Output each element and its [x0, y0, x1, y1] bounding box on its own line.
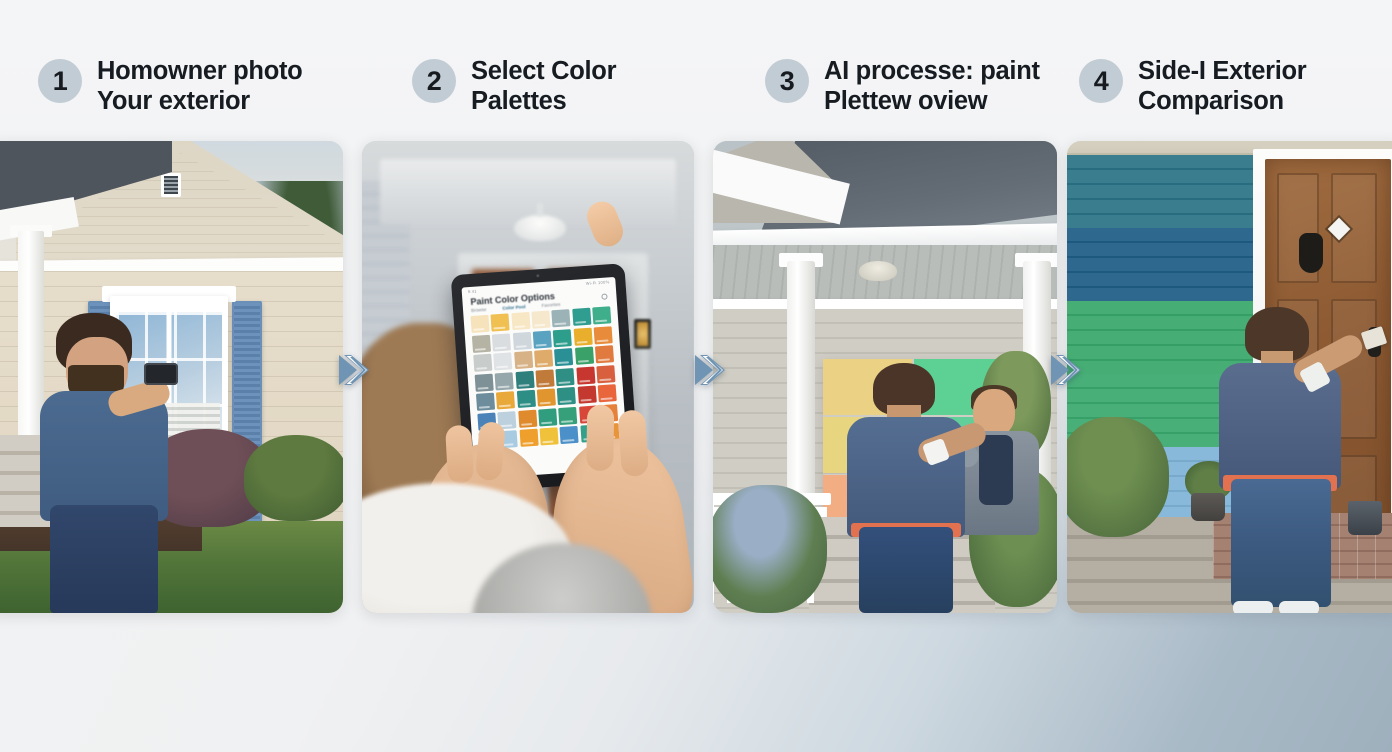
paint-swatch-25[interactable] [535, 369, 554, 387]
paint-swatch-30[interactable] [496, 391, 515, 409]
step-1-image-panel [0, 141, 343, 613]
paint-swatch-24[interactable] [515, 370, 534, 388]
scene-ai-paint-preview [713, 141, 1057, 613]
paint-swatch-11[interactable] [533, 330, 552, 348]
arrow-step-1-to-2 [337, 348, 377, 392]
homeowner-jeans [50, 505, 158, 613]
step-header-1: 1 Homowner photo Your exterior [0, 0, 360, 140]
paint-swatch-10[interactable] [512, 331, 531, 349]
paint-swatch-5[interactable] [552, 309, 571, 327]
paint-swatch-17[interactable] [514, 351, 533, 369]
homeowner-jeans [859, 527, 953, 613]
paint-swatch-9[interactable] [492, 333, 511, 351]
paint-swatch-31[interactable] [517, 390, 536, 408]
tab-color-pool[interactable]: Color Pool [502, 304, 526, 311]
flowering-shrub-left [713, 485, 827, 613]
tab-favorites[interactable]: Favorites [541, 302, 560, 308]
arrow-step-3-to-4 [1049, 348, 1089, 392]
left-finger-1 [445, 425, 474, 484]
paint-swatch-19[interactable] [554, 348, 573, 366]
homeowner-shoe-right [1279, 601, 1319, 613]
paint-swatch-22[interactable] [475, 373, 494, 391]
paint-swatch-7[interactable] [592, 306, 611, 324]
paint-swatch-15[interactable] [473, 354, 492, 372]
blurred-porch-lantern [634, 319, 651, 349]
paint-swatch-16[interactable] [494, 352, 513, 370]
step-1-badge: 1 [38, 59, 82, 103]
paint-swatch-45[interactable] [519, 429, 538, 447]
page-canvas: 1 Homowner photo Your exterior 2 Select … [0, 0, 1392, 752]
blurred-ceiling-light [514, 215, 566, 241]
tab-browse[interactable]: Browse [471, 307, 487, 313]
gable-vent [161, 173, 181, 197]
door-knocker-icon [1299, 233, 1323, 273]
step-1-title: Homowner photo Your exterior [97, 57, 302, 116]
left-finger-2 [475, 421, 506, 481]
step-4-title: Side-I Exterior Comparison [1138, 57, 1306, 116]
paint-swatch-27[interactable] [576, 366, 595, 384]
paint-swatch-32[interactable] [537, 388, 556, 406]
paint-swatch-33[interactable] [557, 387, 576, 405]
homeowner-figure [34, 313, 184, 613]
step-header-4: 4 Side-I Exterior Comparison [1068, 0, 1392, 140]
step-3-title: AI processe: paint Plettew oview [824, 57, 1040, 116]
paint-swatch-20[interactable] [575, 347, 594, 365]
homeowner-shoe-left [1233, 601, 1273, 613]
step-header-3: 3 AI processe: paint Plettew oview [710, 0, 1068, 140]
right-finger-2 [618, 409, 650, 477]
paint-swatch-4[interactable] [531, 311, 550, 329]
paint-swatch-26[interactable] [556, 367, 575, 385]
scene-side-by-side-comparison [1067, 141, 1392, 613]
paint-swatch-3[interactable] [511, 312, 530, 330]
paint-swatch-12[interactable] [553, 329, 572, 347]
paint-swatch-2[interactable] [491, 313, 510, 331]
step-3-image-panel [713, 141, 1057, 613]
paint-swatch-6[interactable] [572, 308, 591, 326]
homeowner-figure [843, 363, 971, 613]
step-3-badge: 3 [765, 59, 809, 103]
paint-swatch-34[interactable] [577, 386, 596, 404]
steps-header: 1 Homowner photo Your exterior 2 Select … [0, 0, 1392, 140]
step-4-badge: 4 [1079, 59, 1123, 103]
contractor-tshirt [979, 435, 1013, 505]
paint-swatch-13[interactable] [573, 327, 592, 345]
homeowner-jeans [1231, 479, 1331, 607]
paint-swatch-21[interactable] [595, 345, 614, 363]
comparison-stripe-2 [1067, 228, 1257, 301]
paint-swatch-40[interactable] [559, 406, 578, 424]
paint-swatch-23[interactable] [495, 372, 514, 390]
paint-swatch-29[interactable] [476, 393, 495, 411]
step-header-2: 2 Select Color Palettes [360, 0, 710, 140]
scene-homeowner-photo [0, 141, 343, 613]
paint-swatch-28[interactable] [596, 365, 615, 383]
scene-tablet-palette: 9:41 Wi-Fi 100% Paint Color Options Brow… [362, 141, 694, 613]
paint-swatch-38[interactable] [518, 409, 537, 427]
step-4-image-panel [1067, 141, 1392, 613]
paint-swatch-35[interactable] [598, 384, 617, 402]
paint-swatch-1[interactable] [470, 315, 489, 333]
porch-ceiling-light [859, 261, 897, 281]
right-finger-1 [586, 405, 614, 471]
paint-swatch-8[interactable] [472, 334, 491, 352]
paint-swatch-14[interactable] [594, 326, 613, 344]
paint-swatch-46[interactable] [540, 427, 559, 445]
camera-phone-icon [144, 363, 178, 385]
arrow-step-2-to-3 [693, 348, 733, 392]
comparison-stripe-1 [1067, 155, 1257, 228]
shrub-left [1067, 417, 1169, 537]
step-2-image-panel: 9:41 Wi-Fi 100% Paint Color Options Brow… [362, 141, 694, 613]
step-2-badge: 2 [412, 59, 456, 103]
homeowner-figure [1217, 307, 1357, 607]
paint-swatch-18[interactable] [534, 349, 553, 367]
paint-swatch-47[interactable] [560, 426, 579, 444]
blurred-soffit [380, 159, 676, 225]
shrub-green [244, 435, 343, 521]
homeowner-shirt [40, 391, 168, 521]
step-2-title: Select Color Palettes [471, 57, 616, 116]
tablet-camera-icon [536, 274, 539, 277]
paint-swatch-39[interactable] [538, 408, 557, 426]
